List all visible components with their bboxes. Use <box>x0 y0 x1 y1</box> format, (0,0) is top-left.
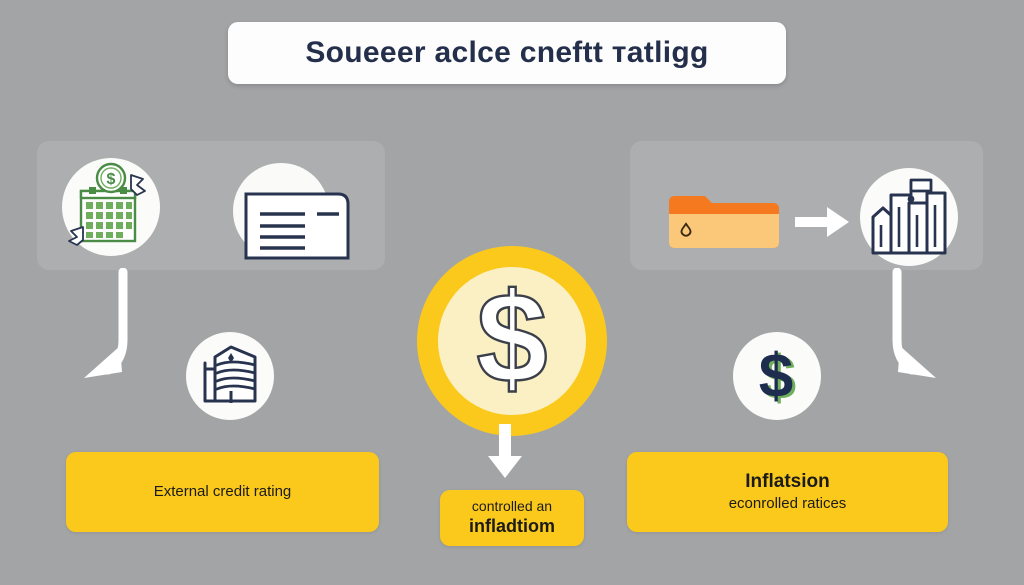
document-card-wrap <box>243 188 351 262</box>
document-card-icon <box>243 188 351 262</box>
label-inflation-rates[interactable]: Inflatsion econrolled ratices <box>627 452 948 532</box>
dollar-sign-icon-circle: $ $ <box>733 332 821 420</box>
right-arrow-icon <box>793 203 851 241</box>
dollar-coin-inner: $ <box>438 267 586 415</box>
svg-text:$: $ <box>476 276 547 406</box>
city-buildings-icon <box>867 175 951 259</box>
dollar-coin-icon: $ <box>417 246 607 436</box>
label-line2: infladtiom <box>469 515 555 538</box>
bank-building-icon-circle <box>186 332 274 420</box>
label-controlled-inflation[interactable]: controlled an infladtiom <box>440 490 584 546</box>
label-external-credit-rating[interactable]: External credit rating <box>66 452 379 532</box>
folder-icon <box>665 194 783 250</box>
label-line1: controlled an <box>472 498 552 515</box>
calendar-money-icon: $ <box>65 161 157 253</box>
bank-building-icon <box>197 343 263 409</box>
infographic-canvas: Soueeer aclce cneftt таtligg <box>0 0 1024 585</box>
curved-arrow-down-left <box>76 268 148 390</box>
svg-text:$: $ <box>759 342 793 411</box>
page-title: Soueeer aclce cneftt таtligg <box>305 36 708 70</box>
label-line2: econrolled ratices <box>729 494 847 514</box>
calendar-money-icon-circle: $ <box>62 158 160 256</box>
svg-text:$: $ <box>107 171 116 188</box>
title-card: Soueeer aclce cneftt таtligg <box>228 22 786 84</box>
curved-arrow-down-right <box>872 268 944 390</box>
dollar-sign-icon: $ $ <box>745 341 809 411</box>
label-text: External credit rating <box>154 483 292 502</box>
dollar-symbol: $ <box>457 276 567 406</box>
arrow-down <box>486 424 524 480</box>
label-line1: Inflatsion <box>745 470 829 494</box>
city-buildings-icon-circle <box>860 168 958 266</box>
